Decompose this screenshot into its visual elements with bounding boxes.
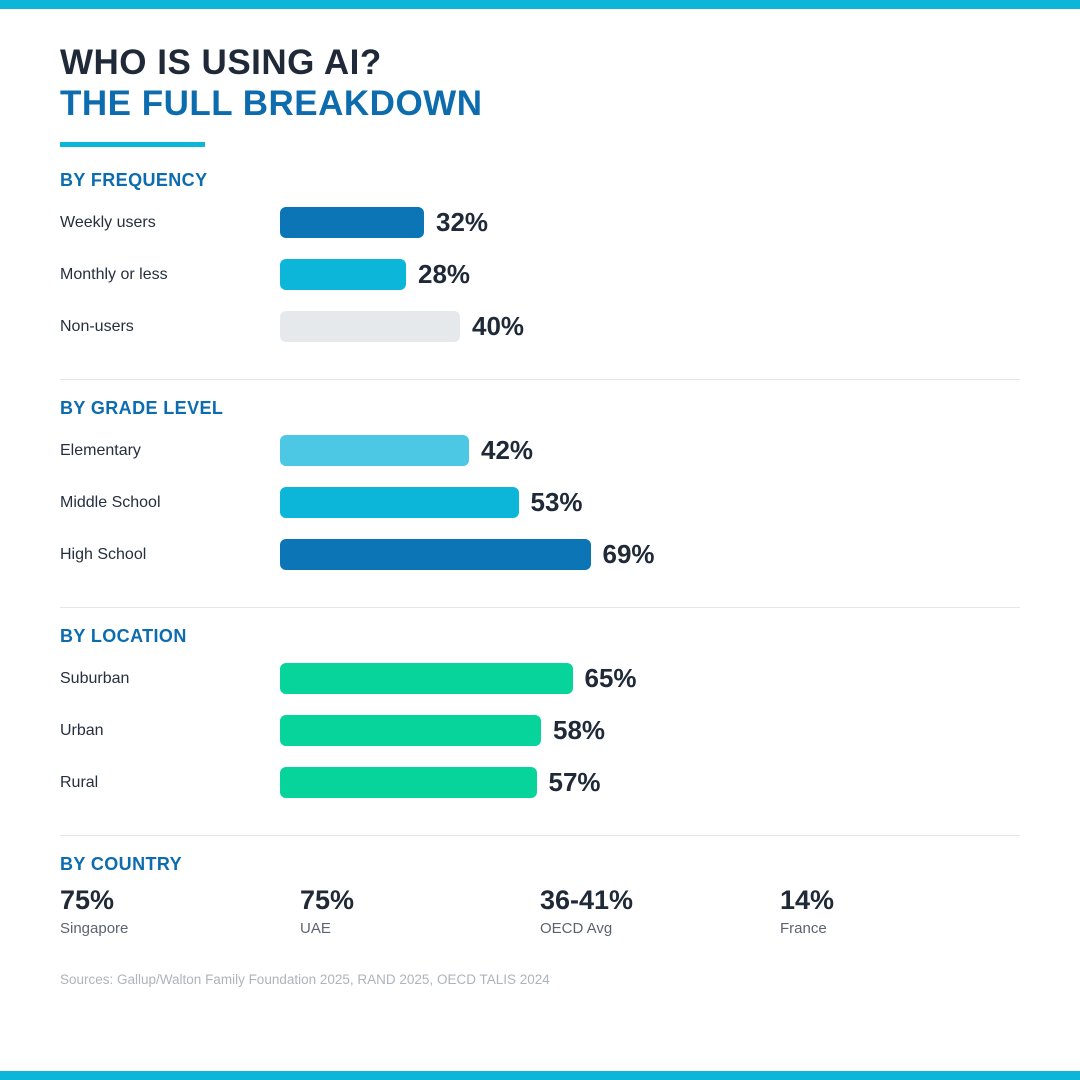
section-location: BY LOCATION Suburban 65% Urban 58% Rural… <box>60 607 1020 809</box>
bar-track: 69% <box>280 539 655 570</box>
country-stat-label: UAE <box>300 920 540 937</box>
bar-track: 40% <box>280 311 524 342</box>
section-divider <box>60 379 1020 380</box>
bar-track: 58% <box>280 715 605 746</box>
bar-label: Urban <box>60 722 280 740</box>
bar-value: 40% <box>472 311 524 342</box>
bar-row: Monthly or less 28% <box>60 249 1020 301</box>
bar-track: 28% <box>280 259 470 290</box>
bar-row: Non-users 40% <box>60 301 1020 353</box>
section-country: BY COUNTRY 75% Singapore 75% UAE 36-41% … <box>60 835 1020 987</box>
bar-fill <box>280 259 406 290</box>
bar-track: 32% <box>280 207 488 238</box>
bar-value: 57% <box>549 767 601 798</box>
sources-note: Sources: Gallup/Walton Family Foundation… <box>60 972 1020 987</box>
bar-row: Middle School 53% <box>60 477 1020 529</box>
section-divider <box>60 607 1020 608</box>
bar-row: Elementary 42% <box>60 425 1020 477</box>
bar-value: 28% <box>418 259 470 290</box>
bar-row: Weekly users 32% <box>60 197 1020 249</box>
country-stat-label: Singapore <box>60 920 300 937</box>
country-stat: 36-41% OECD Avg <box>540 885 780 937</box>
country-stat-label: OECD Avg <box>540 920 780 937</box>
section-frequency: BY FREQUENCY Weekly users 32% Monthly or… <box>60 170 1020 353</box>
bar-row: Rural 57% <box>60 757 1020 809</box>
bar-fill <box>280 435 469 466</box>
bar-label: Elementary <box>60 442 280 460</box>
bar-value: 53% <box>531 487 583 518</box>
bar-value: 69% <box>603 539 655 570</box>
bar-label: High School <box>60 546 280 564</box>
section-title-country: BY COUNTRY <box>60 854 1020 875</box>
bar-fill <box>280 767 537 798</box>
title-block: WHO IS USING AI? THE FULL BREAKDOWN <box>60 9 1020 147</box>
infographic-page: WHO IS USING AI? THE FULL BREAKDOWN BY F… <box>0 9 1080 1071</box>
bar-track: 42% <box>280 435 533 466</box>
country-stat-value: 36-41% <box>540 885 780 916</box>
bar-label: Rural <box>60 774 280 792</box>
bar-row: Suburban 65% <box>60 653 1020 705</box>
page-title-primary: WHO IS USING AI? <box>60 42 1020 83</box>
section-divider <box>60 835 1020 836</box>
bar-value: 58% <box>553 715 605 746</box>
bar-row: Urban 58% <box>60 705 1020 757</box>
bar-row: High School 69% <box>60 529 1020 581</box>
bar-track: 53% <box>280 487 583 518</box>
country-stat-value: 75% <box>60 885 300 916</box>
section-title-frequency: BY FREQUENCY <box>60 170 1020 191</box>
bar-fill <box>280 715 541 746</box>
country-stat: 14% France <box>780 885 1020 937</box>
country-stat-value: 14% <box>780 885 1020 916</box>
bar-fill <box>280 207 424 238</box>
country-stat-grid: 75% Singapore 75% UAE 36-41% OECD Avg 14… <box>60 885 1020 937</box>
title-underline-accent <box>60 142 205 147</box>
section-title-grade-level: BY GRADE LEVEL <box>60 398 1020 419</box>
bar-label: Suburban <box>60 670 280 688</box>
bar-track: 65% <box>280 663 637 694</box>
country-stat-label: France <box>780 920 1020 937</box>
bar-value: 42% <box>481 435 533 466</box>
country-stat-value: 75% <box>300 885 540 916</box>
bar-label: Weekly users <box>60 214 280 232</box>
country-stat: 75% UAE <box>300 885 540 937</box>
bar-label: Monthly or less <box>60 266 280 284</box>
bar-fill <box>280 539 591 570</box>
bar-label: Middle School <box>60 494 280 512</box>
section-title-location: BY LOCATION <box>60 626 1020 647</box>
bottom-accent-bar <box>0 1071 1080 1080</box>
page-title-secondary: THE FULL BREAKDOWN <box>60 83 1020 124</box>
section-grade-level: BY GRADE LEVEL Elementary 42% Middle Sch… <box>60 379 1020 581</box>
bar-fill <box>280 487 519 518</box>
bar-track: 57% <box>280 767 601 798</box>
country-stat: 75% Singapore <box>60 885 300 937</box>
bar-fill <box>280 663 573 694</box>
top-accent-bar <box>0 0 1080 9</box>
bar-value: 32% <box>436 207 488 238</box>
bar-value: 65% <box>585 663 637 694</box>
bar-fill <box>280 311 460 342</box>
bar-label: Non-users <box>60 318 280 336</box>
